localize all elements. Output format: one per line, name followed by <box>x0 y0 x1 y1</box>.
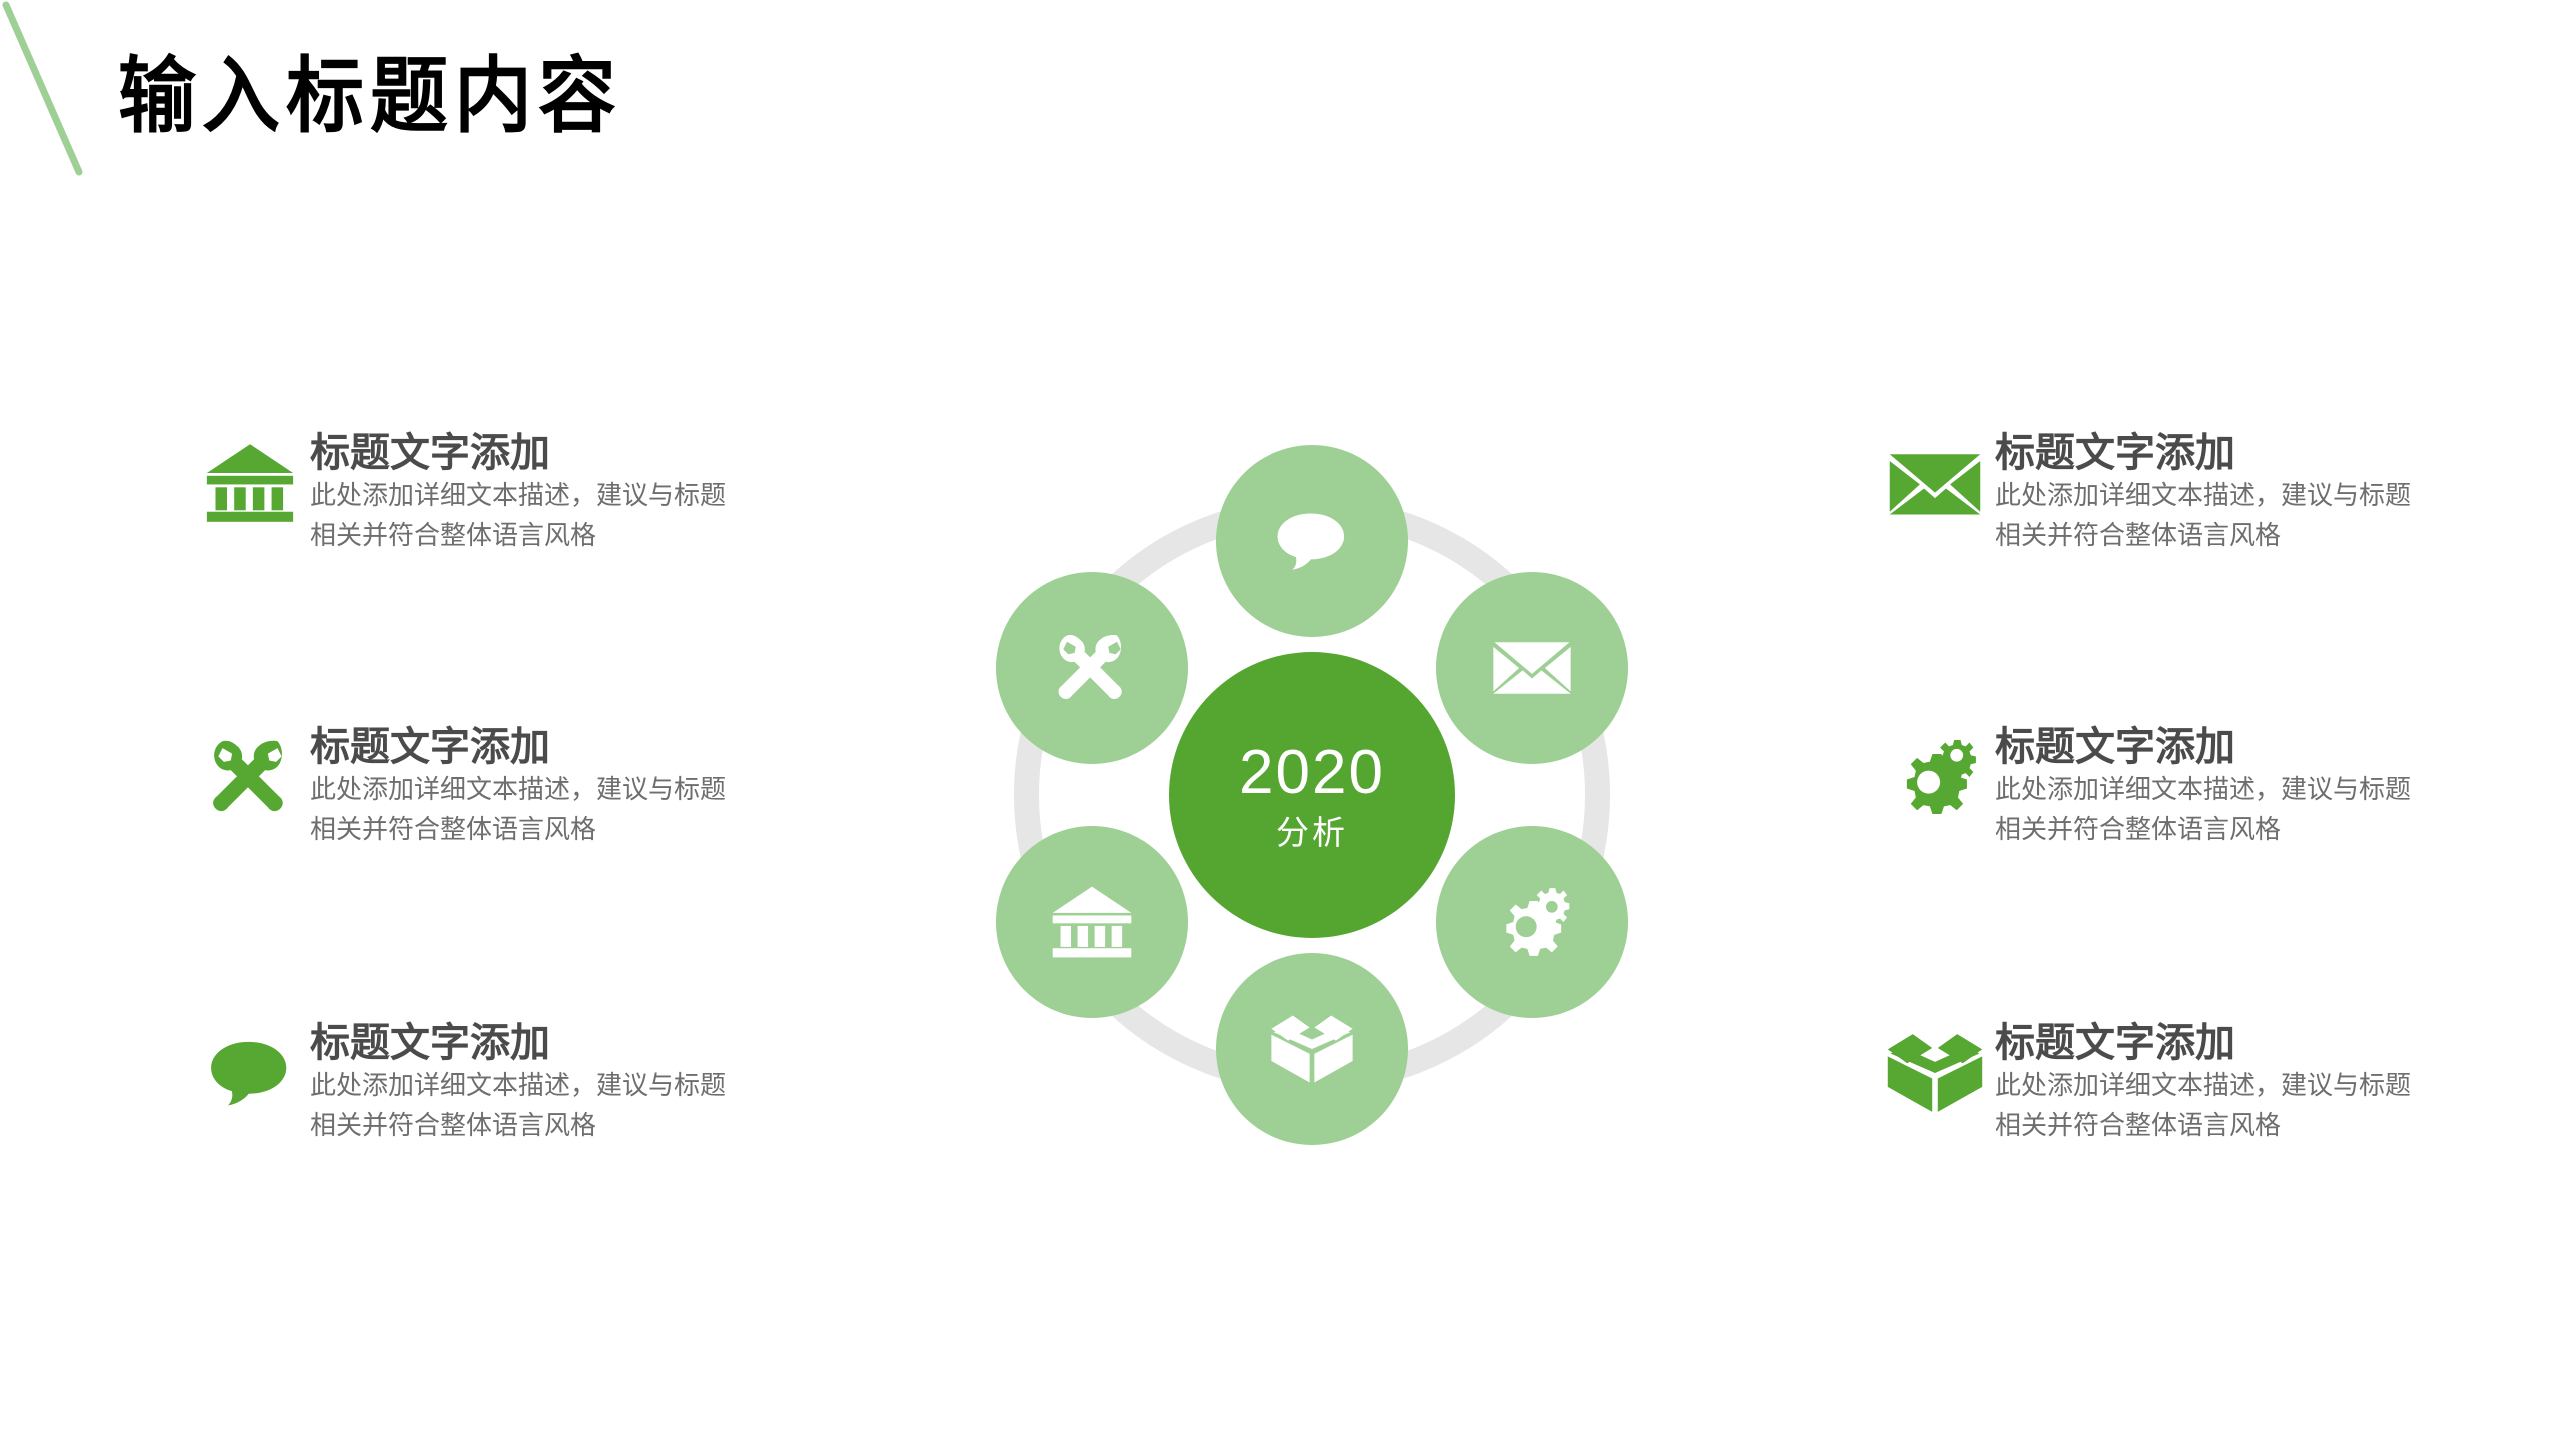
feature-desc-line: 此处添加详细文本描述，建议与标题 <box>310 770 726 810</box>
feature-desc-line: 相关并符合整体语言风格 <box>310 516 726 556</box>
feature-desc-line: 此处添加详细文本描述，建议与标题 <box>1995 770 2411 810</box>
envelope-icon <box>1491 638 1573 698</box>
diagram-node-bank[interactable] <box>996 826 1188 1018</box>
feature-desc-line: 相关并符合整体语言风格 <box>1995 516 2411 556</box>
diagram-node-chat[interactable] <box>1216 445 1408 637</box>
chat-bubble-icon <box>1274 510 1350 572</box>
open-box-icon <box>1269 1012 1355 1086</box>
bank-icon <box>190 428 310 538</box>
feature-description: 此处添加详细文本描述，建议与标题 相关并符合整体语言风格 <box>1995 1066 2411 1145</box>
feature-item-right-2[interactable]: 标题文字添加 此处添加详细文本描述，建议与标题 相关并符合整体语言风格 <box>1875 722 2495 849</box>
feature-desc-line: 此处添加详细文本描述，建议与标题 <box>310 1066 726 1106</box>
feature-desc-line: 此处添加详细文本描述，建议与标题 <box>1995 476 2411 516</box>
feature-item-left-1[interactable]: 标题文字添加 此处添加详细文本描述，建议与标题 相关并符合整体语言风格 <box>190 428 810 555</box>
diagram-node-mail[interactable] <box>1436 572 1628 764</box>
bank-icon <box>1050 884 1134 960</box>
feature-title: 标题文字添加 <box>1995 726 2411 768</box>
slide-canvas: 输入标题内容 标题文字添加 此处添加详细文本描述，建议与标题 相关并符合整体语言… <box>0 0 2560 1440</box>
open-box-icon <box>1875 1018 1995 1128</box>
feature-text: 标题文字添加 此处添加详细文本描述，建议与标题 相关并符合整体语言风格 <box>1995 428 2411 555</box>
feature-text: 标题文字添加 此处添加详细文本描述，建议与标题 相关并符合整体语言风格 <box>310 1018 726 1145</box>
feature-desc-line: 此处添加详细文本描述，建议与标题 <box>310 476 726 516</box>
diagram-node-tools[interactable] <box>996 572 1188 764</box>
chat-bubble-icon <box>190 1018 310 1128</box>
feature-description: 此处添加详细文本描述，建议与标题 相关并符合整体语言风格 <box>1995 476 2411 555</box>
feature-text: 标题文字添加 此处添加详细文本描述，建议与标题 相关并符合整体语言风格 <box>310 428 726 555</box>
envelope-icon <box>1875 428 1995 538</box>
feature-description: 此处添加详细文本描述，建议与标题 相关并符合整体语言风格 <box>310 1066 726 1145</box>
feature-item-right-1[interactable]: 标题文字添加 此处添加详细文本描述，建议与标题 相关并符合整体语言风格 <box>1875 428 2495 555</box>
feature-text: 标题文字添加 此处添加详细文本描述，建议与标题 相关并符合整体语言风格 <box>310 722 726 849</box>
feature-title: 标题文字添加 <box>310 726 726 768</box>
feature-description: 此处添加详细文本描述，建议与标题 相关并符合整体语言风格 <box>310 770 726 849</box>
feature-text: 标题文字添加 此处添加详细文本描述，建议与标题 相关并符合整体语言风格 <box>1995 1018 2411 1145</box>
center-label: 分析 <box>1276 816 1348 849</box>
feature-item-left-2[interactable]: 标题文字添加 此处添加详细文本描述，建议与标题 相关并符合整体语言风格 <box>190 722 810 849</box>
feature-title: 标题文字添加 <box>310 1022 726 1064</box>
feature-desc-line: 相关并符合整体语言风格 <box>1995 810 2411 850</box>
feature-desc-line: 相关并符合整体语言风格 <box>1995 1106 2411 1146</box>
diagram-node-gears[interactable] <box>1436 826 1628 1018</box>
tools-icon <box>1052 628 1132 708</box>
cycle-diagram: 2020 分析 <box>962 445 1662 1145</box>
feature-desc-line: 相关并符合整体语言风格 <box>310 810 726 850</box>
feature-desc-line: 此处添加详细文本描述，建议与标题 <box>1995 1066 2411 1106</box>
feature-text: 标题文字添加 此处添加详细文本描述，建议与标题 相关并符合整体语言风格 <box>1995 722 2411 849</box>
page-title: 输入标题内容 <box>118 46 622 149</box>
feature-title: 标题文字添加 <box>1995 432 2411 474</box>
gears-icon <box>1490 886 1574 958</box>
feature-desc-line: 相关并符合整体语言风格 <box>310 1106 726 1146</box>
diagram-node-box[interactable] <box>1216 953 1408 1145</box>
diagram-center[interactable]: 2020 分析 <box>1169 652 1455 938</box>
center-year: 2020 <box>1239 742 1385 804</box>
feature-title: 标题文字添加 <box>1995 1022 2411 1064</box>
feature-title: 标题文字添加 <box>310 432 726 474</box>
feature-item-right-3[interactable]: 标题文字添加 此处添加详细文本描述，建议与标题 相关并符合整体语言风格 <box>1875 1018 2495 1145</box>
feature-description: 此处添加详细文本描述，建议与标题 相关并符合整体语言风格 <box>310 476 726 555</box>
feature-item-left-3[interactable]: 标题文字添加 此处添加详细文本描述，建议与标题 相关并符合整体语言风格 <box>190 1018 810 1145</box>
feature-description: 此处添加详细文本描述，建议与标题 相关并符合整体语言风格 <box>1995 770 2411 849</box>
gears-icon <box>1875 722 1995 832</box>
tools-icon <box>190 722 310 832</box>
diagonal-line-icon <box>0 0 120 190</box>
